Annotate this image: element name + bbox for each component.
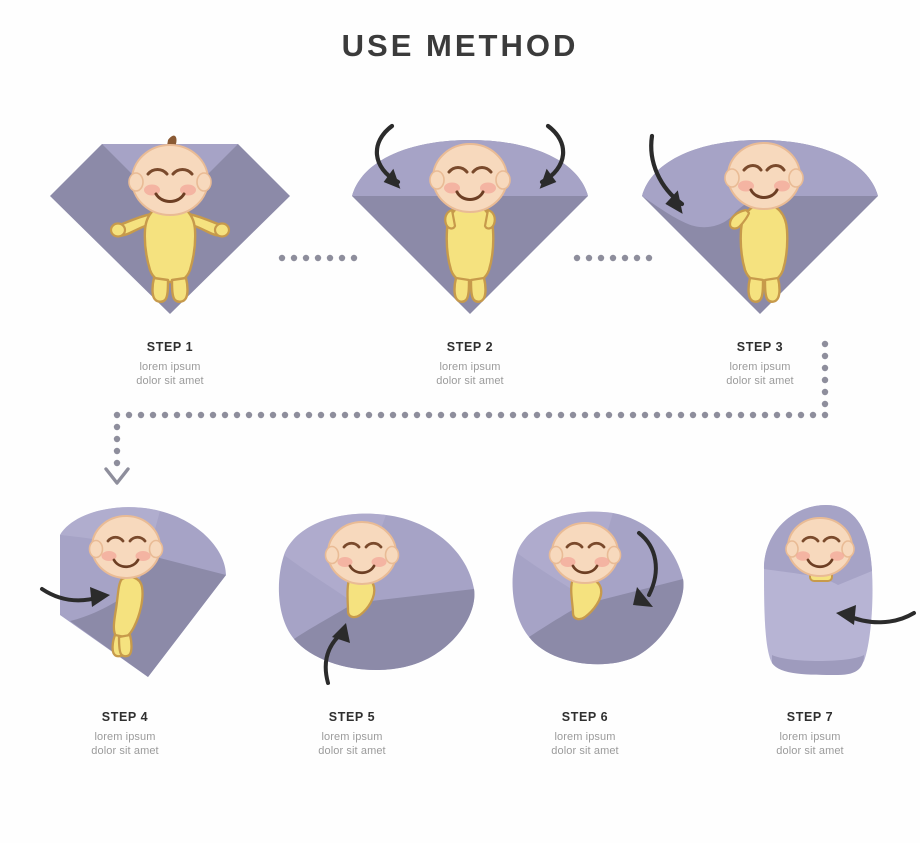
step-7-caption: STEP 7 lorem ipsum dolor sit amet xyxy=(710,710,910,758)
step-7-title: STEP 7 xyxy=(710,710,910,724)
page-title: USE METHOD xyxy=(0,28,920,64)
step-7-sub-line2: dolor sit amet xyxy=(710,745,910,759)
step-2-figure xyxy=(340,118,600,318)
step-5-caption: STEP 5 lorem ipsum dolor sit amet xyxy=(252,710,452,758)
step-3-figure xyxy=(630,118,890,318)
step-7-figure xyxy=(718,495,918,685)
step-1-figure xyxy=(40,118,300,318)
step-5-sub-line2: dolor sit amet xyxy=(252,745,452,759)
step-6-sub-line2: dolor sit amet xyxy=(485,745,685,759)
connector-row-wrap xyxy=(100,336,840,486)
step-4-sub-line1: lorem ipsum xyxy=(25,731,225,745)
bottom-folded-illustration xyxy=(262,495,492,685)
top-folded-illustration xyxy=(340,118,600,318)
step-7-sub-line1: lorem ipsum xyxy=(710,731,910,745)
connector-row-wrap-path xyxy=(100,336,840,486)
baby-head xyxy=(326,522,399,584)
swaddled-illustration xyxy=(718,495,918,685)
diamond-open-illustration xyxy=(40,118,300,318)
left-wrapped-illustration xyxy=(30,495,260,685)
step-6-caption: STEP 6 lorem ipsum dolor sit amet xyxy=(485,710,685,758)
connector-dots xyxy=(114,341,828,466)
baby-head xyxy=(90,516,163,578)
step-4-figure xyxy=(30,495,260,685)
step-6-sub-line1: lorem ipsum xyxy=(485,731,685,745)
step-6-figure xyxy=(495,495,705,685)
baby-head xyxy=(786,518,854,576)
step-4-sub-line2: dolor sit amet xyxy=(25,745,225,759)
infographic-canvas: USE METHOD xyxy=(0,0,920,843)
step-6-title: STEP 6 xyxy=(485,710,685,724)
step-5-title: STEP 5 xyxy=(252,710,452,724)
baby-head xyxy=(550,523,621,583)
step-4-caption: STEP 4 lorem ipsum dolor sit amet xyxy=(25,710,225,758)
step-4-title: STEP 4 xyxy=(25,710,225,724)
step-5-figure xyxy=(262,495,492,685)
step-5-sub-line1: lorem ipsum xyxy=(252,731,452,745)
left-folded-illustration xyxy=(630,118,890,318)
right-folding-illustration xyxy=(495,495,705,685)
chevron-down-icon xyxy=(106,469,128,483)
